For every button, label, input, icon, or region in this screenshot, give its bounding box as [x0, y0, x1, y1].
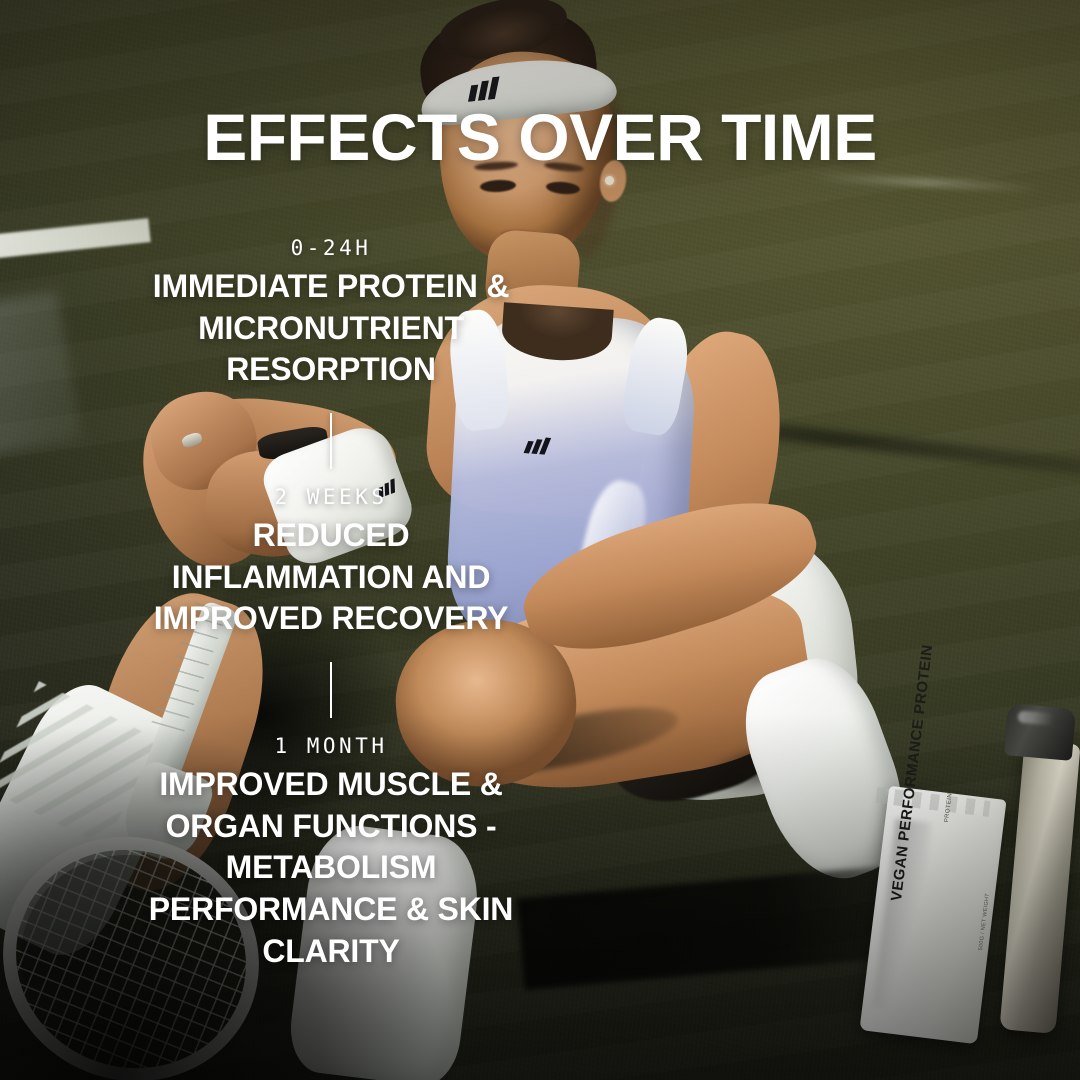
stage-description: REDUCED INFLAMMATION AND IMPROVED RECOVE… [130, 515, 532, 640]
timeline-divider [330, 662, 332, 718]
timeline-stage-1-month: 1 MONTH IMPROVED MUSCLE & ORGAN FUNCTION… [130, 734, 532, 972]
text-overlay: EFFECTS OVER TIME 0-24H IMMEDIATE PROTEI… [0, 0, 1080, 1080]
page-title: EFFECTS OVER TIME [0, 104, 1080, 170]
timeline-divider [330, 413, 332, 469]
stage-time-label: 2 WEEKS [130, 485, 532, 510]
stage-description: IMPROVED MUSCLE & ORGAN FUNCTIONS - META… [130, 764, 532, 972]
timeline-column: 0-24H IMMEDIATE PROTEIN & MICRONUTRIENT … [130, 236, 532, 972]
timeline-stage-0-24h: 0-24H IMMEDIATE PROTEIN & MICRONUTRIENT … [130, 236, 532, 391]
stage-description: IMMEDIATE PROTEIN & MICRONUTRIENT RESORP… [130, 266, 532, 391]
stage-time-label: 1 MONTH [130, 734, 532, 759]
poster-canvas: PROTEIN 500G / NET WEIGHT VEGAN PERFORMA… [0, 0, 1080, 1080]
timeline-stage-2-weeks: 2 WEEKS REDUCED INFLAMMATION AND IMPROVE… [130, 485, 532, 640]
stage-time-label: 0-24H [130, 236, 532, 261]
